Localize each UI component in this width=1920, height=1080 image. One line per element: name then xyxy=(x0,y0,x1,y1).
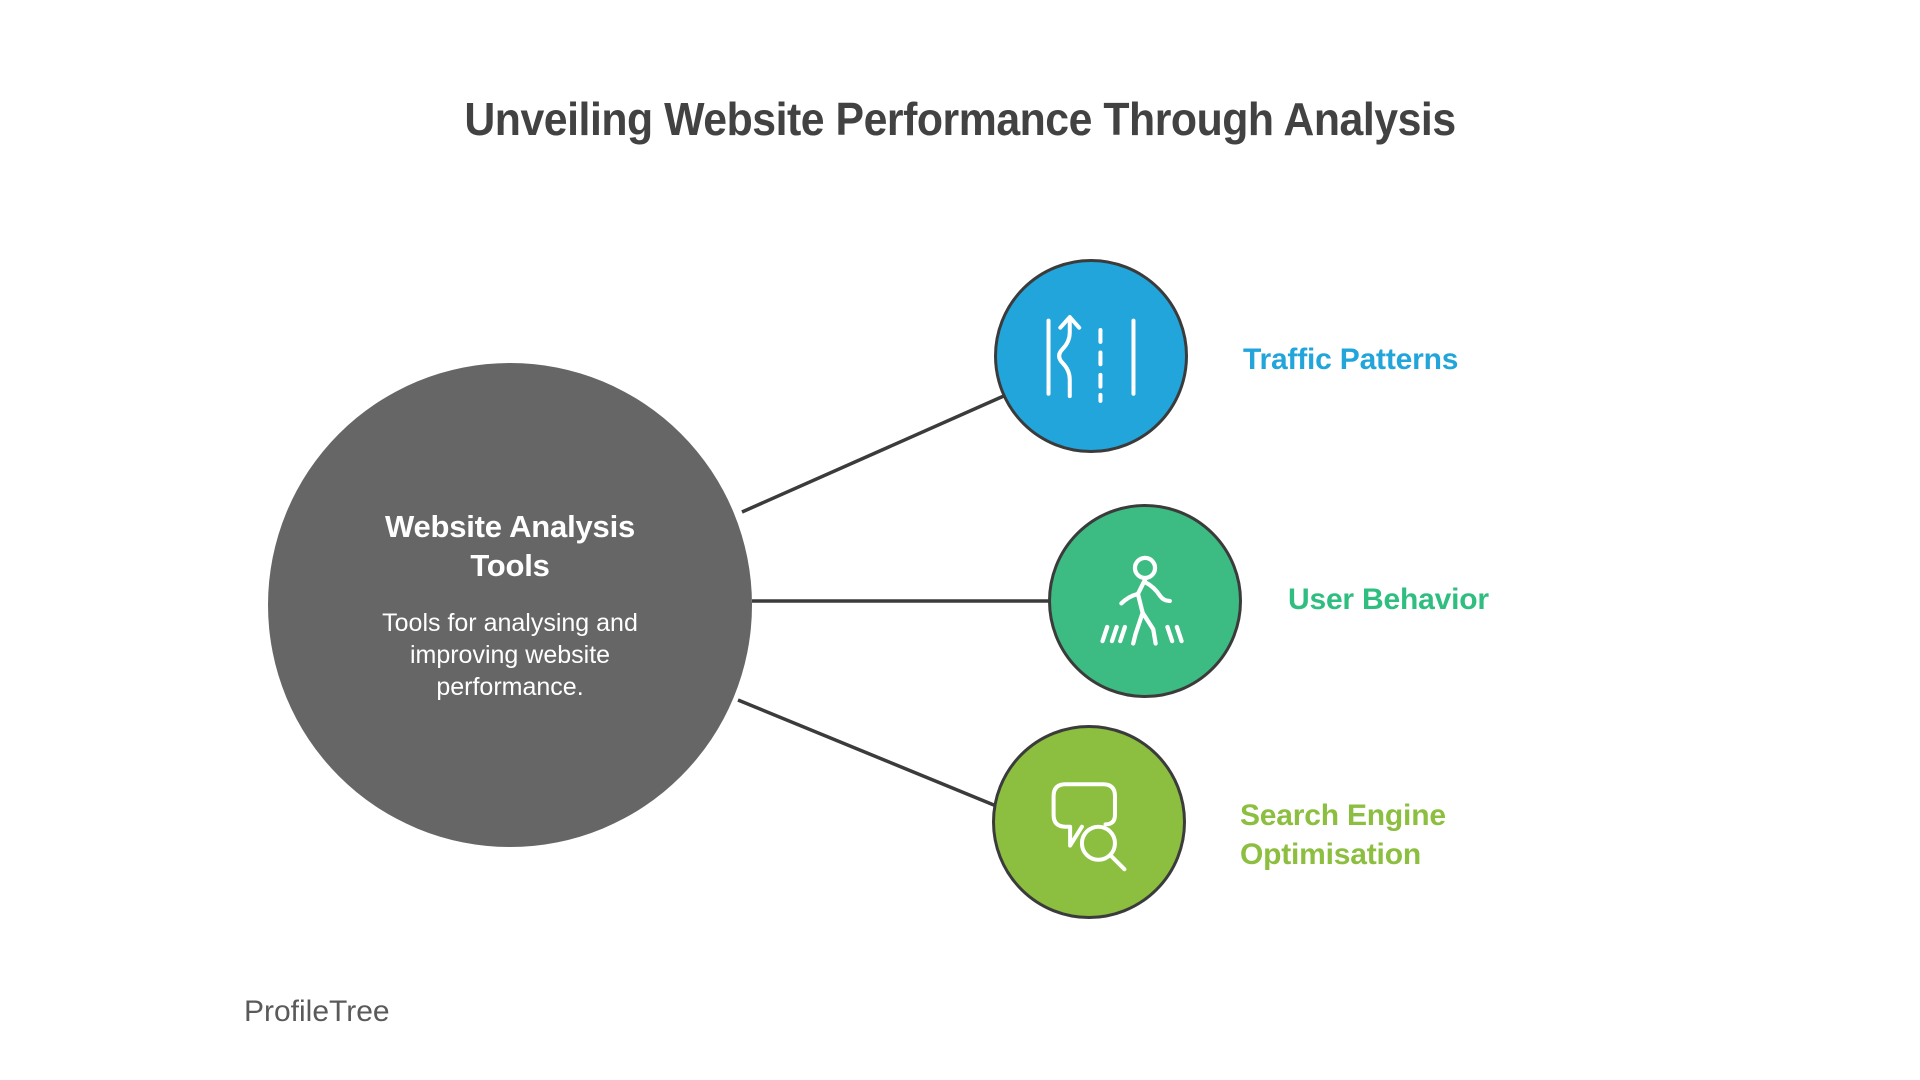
footer-brand: ProfileTree xyxy=(244,995,390,1029)
hub-description: Tools for analysing and improving websit… xyxy=(345,607,675,703)
page-title: Unveiling Website Performance Through An… xyxy=(67,92,1853,146)
hub-node-website-analysis-tools[interactable]: Website Analysis Tools Tools for analysi… xyxy=(268,363,752,847)
connector-to-traffic xyxy=(742,395,1006,512)
walking-person-icon xyxy=(1086,542,1204,660)
connector-to-seo xyxy=(738,700,1006,810)
speech-bubble-search-icon xyxy=(1030,763,1148,881)
branch-node-search-engine-optimisation[interactable] xyxy=(992,725,1186,919)
road-traffic-icon xyxy=(1032,297,1150,415)
branch-node-traffic-patterns[interactable] xyxy=(994,259,1188,453)
branch-label-traffic-patterns: Traffic Patterns xyxy=(1243,340,1458,379)
branch-node-user-behavior[interactable] xyxy=(1048,504,1242,698)
branch-label-user-behavior: User Behavior xyxy=(1288,580,1489,619)
hub-title: Website Analysis Tools xyxy=(345,507,675,585)
branch-label-search-engine-optimisation: Search Engine Optimisation xyxy=(1240,796,1540,874)
diagram-canvas: Unveiling Website Performance Through An… xyxy=(0,0,1920,1080)
